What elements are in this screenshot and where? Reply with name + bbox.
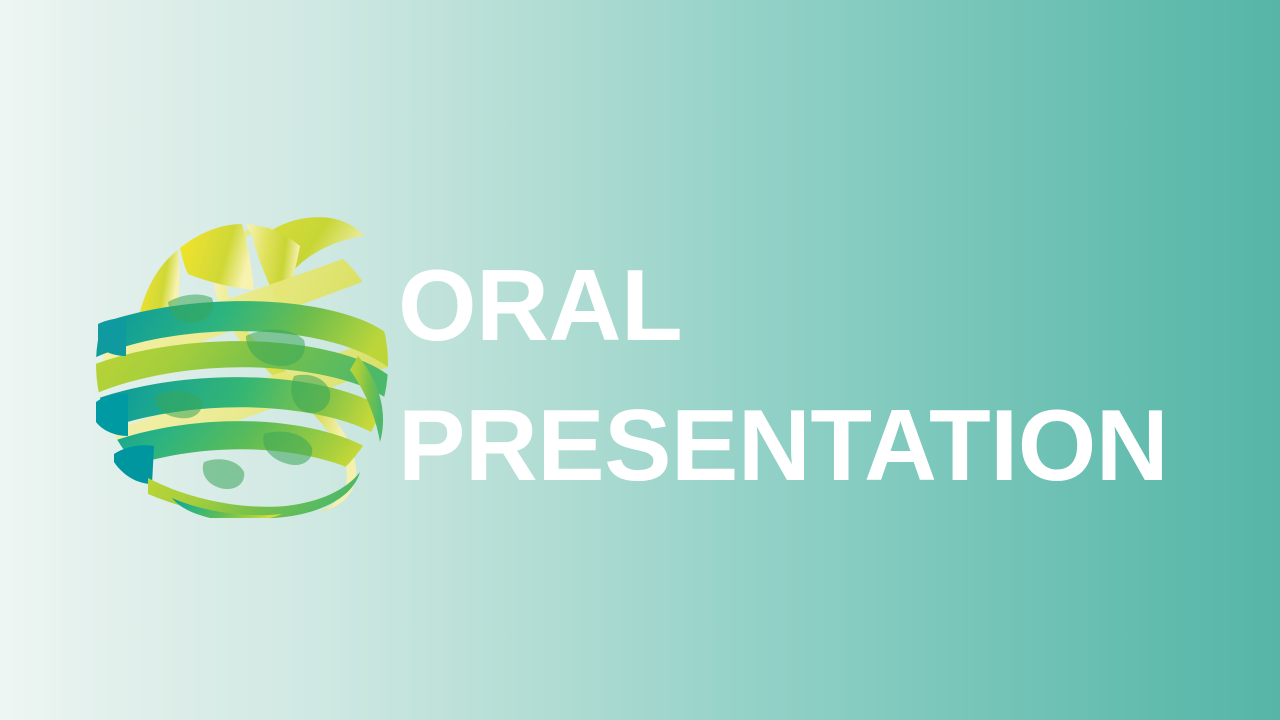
ribbon-tail-bottom-1 [148, 472, 360, 518]
globe-ribbons [96, 217, 388, 518]
ribbon-tip-left-2 [96, 394, 128, 436]
title-line-presentation: PRESENTATION [398, 376, 1228, 516]
slide-title: ORAL PRESENTATION [398, 236, 1228, 516]
presentation-slide: ORAL PRESENTATION [0, 0, 1280, 720]
title-line-oral: ORAL [398, 236, 1228, 376]
globe-ribbon-leaf-logo [96, 206, 388, 518]
ribbon-band-2 [180, 224, 254, 290]
